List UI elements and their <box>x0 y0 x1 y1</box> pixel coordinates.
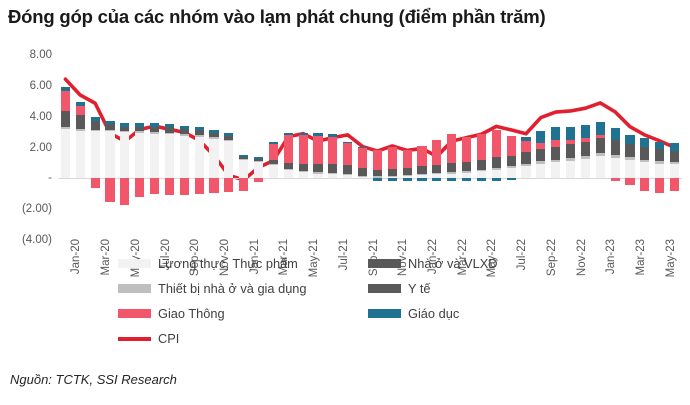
bar-segment <box>625 160 634 179</box>
bar-segment <box>120 123 129 127</box>
bar-segment <box>180 136 189 178</box>
bar-segment <box>551 160 560 162</box>
bar-segment <box>180 130 189 135</box>
stacked-bar[interactable] <box>91 55 100 240</box>
bar-segment <box>417 146 426 166</box>
legend-item[interactable]: Giáo dục <box>368 306 459 321</box>
bar-segment <box>611 178 620 180</box>
bar-segment <box>165 127 174 128</box>
bar-segment <box>388 178 397 181</box>
bar-segment <box>61 129 70 178</box>
bar-segment <box>91 121 100 122</box>
bar-segment <box>61 111 70 112</box>
bar-segment <box>566 140 575 145</box>
x-axis-tick-label: May-23 <box>665 239 677 277</box>
bar-segment <box>284 133 293 135</box>
bar-segment <box>76 131 85 179</box>
bar-segment <box>551 162 560 178</box>
bar-segment <box>343 143 352 165</box>
bar-segment <box>625 178 634 185</box>
bar-segment <box>299 171 308 172</box>
bar-segment <box>507 156 516 166</box>
stacked-bar[interactable] <box>135 55 144 240</box>
bar-segment <box>432 178 441 180</box>
bar-segment <box>195 135 204 137</box>
bar-segment <box>209 130 218 133</box>
stacked-bar[interactable] <box>447 55 456 240</box>
bar-segment <box>670 162 679 164</box>
stacked-bar[interactable] <box>358 55 367 240</box>
bar-segment <box>328 173 337 174</box>
stacked-bar[interactable] <box>492 55 501 240</box>
stacked-bar[interactable] <box>61 55 70 240</box>
bar-segment <box>120 127 129 128</box>
bar-segment <box>447 164 456 172</box>
bar-segment <box>521 166 530 178</box>
bar-segment <box>358 147 367 148</box>
bar-segment <box>611 141 620 155</box>
legend-swatch <box>118 284 151 293</box>
bar-segment <box>373 150 382 170</box>
bar-segment <box>388 169 397 175</box>
stacked-bar[interactable] <box>150 55 159 240</box>
bar-segment <box>165 133 174 135</box>
bar-segment <box>254 159 263 161</box>
stacked-bar[interactable] <box>195 55 204 240</box>
bar-segment <box>180 134 189 136</box>
bar-segment <box>581 138 590 142</box>
bar-segment <box>105 125 114 130</box>
legend-label: Giáo dục <box>408 306 459 321</box>
stacked-bar[interactable] <box>625 55 634 240</box>
bar-segment <box>91 121 100 129</box>
bar-segment <box>403 178 412 181</box>
bar-segment <box>299 133 308 135</box>
y-axis-tick-label: (2.00) <box>6 203 52 215</box>
bar-segment <box>581 156 590 159</box>
bar-segment <box>581 159 590 178</box>
bar-segment <box>328 165 337 173</box>
stacked-bar[interactable] <box>224 55 233 240</box>
bar-segment <box>596 122 605 135</box>
bar-segment <box>91 117 100 121</box>
bar-segment <box>521 153 530 164</box>
legend-item[interactable]: Lương thực, Thực phẩm <box>118 256 298 271</box>
bar-segment <box>269 165 278 178</box>
bar-segment <box>640 147 649 159</box>
y-axis-tick-label: 4.00 <box>6 111 52 123</box>
bar-segment <box>477 171 486 178</box>
bar-segment <box>343 174 352 175</box>
legend-item[interactable]: Giao Thông <box>118 306 225 321</box>
bar-segment <box>284 170 293 178</box>
bar-segment <box>254 157 263 159</box>
bar-segment <box>254 161 263 162</box>
bar-segment <box>254 178 263 182</box>
bar-segment <box>76 106 85 115</box>
bar-segment <box>477 160 486 169</box>
plot-wrapper: Jan-20Mar-20May-20Jul-20Sep-20Nov-20Jan-… <box>0 55 690 240</box>
bar-segment <box>536 164 545 179</box>
bar-segment <box>507 166 516 168</box>
bar-segment <box>462 171 471 173</box>
stacked-bar[interactable] <box>521 55 530 240</box>
bar-segment <box>135 127 144 128</box>
bar-segment <box>328 134 337 136</box>
bar-segment <box>105 124 114 125</box>
bar-segment <box>492 178 501 180</box>
bar-segment <box>313 136 322 165</box>
bar-segment <box>670 151 679 162</box>
bar-segment <box>76 116 85 129</box>
bar-segment <box>313 174 322 179</box>
stacked-bar[interactable] <box>551 55 560 240</box>
bar-segment <box>477 134 486 160</box>
stacked-bar[interactable] <box>254 55 263 240</box>
bar-segment <box>417 174 426 176</box>
stacked-bar[interactable] <box>284 55 293 240</box>
bar-segment <box>581 142 590 156</box>
bar-segment <box>195 137 204 179</box>
stacked-bar[interactable] <box>209 55 218 240</box>
bar-segment <box>566 158 575 161</box>
bar-segment <box>135 127 144 131</box>
bar-segment <box>299 172 308 178</box>
bar-segment <box>655 178 664 193</box>
bar-segment <box>655 142 664 150</box>
bar-segment <box>150 134 159 179</box>
stacked-bar[interactable] <box>120 55 129 240</box>
bar-segment <box>566 127 575 140</box>
stacked-bar[interactable] <box>165 55 174 240</box>
bar-segment <box>209 178 218 193</box>
bar-segment <box>388 147 397 169</box>
stacked-bar[interactable] <box>596 55 605 240</box>
bar-segment <box>269 142 278 144</box>
bar-segment <box>521 164 530 166</box>
stacked-bar[interactable] <box>343 55 352 240</box>
legend-swatch <box>368 284 401 293</box>
bar-segment <box>165 178 174 195</box>
bar-segment <box>61 87 70 91</box>
x-axis-tick-label: Jan-20 <box>70 239 82 274</box>
bar-segment <box>492 158 501 168</box>
bar-segment <box>209 137 218 139</box>
plot-area: Jan-20Mar-20May-20Jul-20Sep-20Nov-20Jan-… <box>58 55 682 240</box>
bar-segment <box>417 178 426 180</box>
bar-segment <box>284 163 293 168</box>
bar-segment <box>596 139 605 154</box>
bar-segment <box>224 136 233 137</box>
bar-segment <box>640 178 649 191</box>
legend-item[interactable]: CPI <box>118 331 179 346</box>
bar-segment <box>447 134 456 163</box>
bar-segment <box>224 133 233 136</box>
bar-segment <box>91 131 100 178</box>
stacked-bar[interactable] <box>655 55 664 240</box>
bar-segment <box>313 133 322 135</box>
bar-segment <box>91 178 100 187</box>
bar-segment <box>462 137 471 162</box>
bar-segment <box>507 168 516 178</box>
bar-segment <box>76 129 85 131</box>
bar-segment <box>150 178 159 193</box>
bar-segment <box>120 127 129 130</box>
legend-swatch <box>368 259 401 268</box>
bar-segment <box>670 164 679 178</box>
stacked-bar[interactable] <box>670 55 679 240</box>
bar-segment <box>640 138 649 146</box>
bar-segment <box>462 163 471 171</box>
bar-segment <box>447 172 456 174</box>
bar-segment <box>150 132 159 134</box>
legend-swatch <box>118 309 151 318</box>
bar-segment <box>150 123 159 127</box>
bar-segment <box>611 158 620 179</box>
bar-segment <box>358 177 367 179</box>
bar-segment <box>150 127 159 132</box>
y-axis-tick-label: 8.00 <box>6 49 52 61</box>
bar-segment <box>239 155 248 157</box>
y-axis-tick-label: 6.00 <box>6 80 52 92</box>
bar-segment <box>625 144 634 157</box>
legend-label: Giao Thông <box>158 306 225 321</box>
legend-item[interactable]: Nhà ở và VLXD <box>368 256 497 271</box>
bar-segment <box>209 134 218 138</box>
bar-segment <box>492 130 501 157</box>
bar-segment <box>670 178 679 191</box>
bar-segment <box>507 136 516 156</box>
y-axis-tick-label: 2.00 <box>6 142 52 154</box>
bar-segment <box>76 102 85 106</box>
legend-label: CPI <box>158 331 179 346</box>
bar-segment <box>417 167 426 174</box>
bar-segment <box>521 141 530 152</box>
bar-segment <box>239 178 248 190</box>
bar-segment <box>432 140 441 165</box>
bar-segment <box>269 164 278 165</box>
bar-segment <box>150 127 159 128</box>
bar-segment <box>239 160 248 179</box>
stacked-bar[interactable] <box>299 55 308 240</box>
stacked-bar[interactable] <box>477 55 486 240</box>
bar-segment <box>180 126 189 129</box>
bar-segment <box>195 178 204 193</box>
bar-segment <box>551 140 560 147</box>
bar-segment <box>343 142 352 144</box>
bar-segment <box>180 178 189 194</box>
bar-segment <box>61 127 70 129</box>
stacked-bar[interactable] <box>180 55 189 240</box>
stacked-bar[interactable] <box>269 55 278 240</box>
bar-segment <box>611 155 620 158</box>
bar-segment <box>596 135 605 138</box>
bar-segment <box>403 150 412 169</box>
bar-segment <box>358 176 367 177</box>
stacked-bar[interactable] <box>566 55 575 240</box>
stacked-bar[interactable] <box>373 55 382 240</box>
bar-segment <box>313 172 322 173</box>
bar-segment <box>209 139 218 178</box>
bar-segment <box>536 161 545 163</box>
legend-label: Thiết bị nhà ở và gia dụng <box>158 281 307 296</box>
bar-segment <box>358 169 367 176</box>
bar-segment <box>254 162 263 178</box>
bar-segment <box>105 131 114 178</box>
bar-segment <box>536 143 545 149</box>
bar-segment <box>120 178 129 204</box>
stacked-bar[interactable] <box>76 55 85 240</box>
stacked-bar[interactable] <box>417 55 426 240</box>
stacked-bar[interactable] <box>536 55 545 240</box>
bar-segment <box>313 165 322 173</box>
bar-segment <box>299 135 308 164</box>
stacked-bar[interactable] <box>328 55 337 240</box>
bar-segment <box>61 112 70 127</box>
bar-segment <box>195 127 204 130</box>
bar-segment <box>224 141 233 178</box>
bar-segment <box>284 135 293 163</box>
stacked-bar[interactable] <box>611 55 620 240</box>
bar-segment <box>343 166 352 174</box>
bar-segment <box>105 121 114 125</box>
bar-segment <box>224 140 233 142</box>
legend-swatch <box>368 309 401 318</box>
bar-segment <box>76 115 85 116</box>
bar-segment <box>358 148 367 168</box>
legend-label: Y tế <box>408 281 431 296</box>
bar-segment <box>209 133 218 134</box>
bar-segment <box>536 131 545 143</box>
bar-segment <box>432 165 441 173</box>
bar-segment <box>447 178 456 180</box>
bar-segment <box>462 178 471 180</box>
stacked-bar[interactable] <box>432 55 441 240</box>
bar-segment <box>640 160 649 162</box>
bar-segment <box>343 175 352 178</box>
bar-segment <box>477 178 486 180</box>
bar-segment <box>566 145 575 158</box>
bar-segment <box>625 135 634 144</box>
chart-legend: Lương thực, Thực phẩmNhà ở và VLXDThiết … <box>118 256 638 348</box>
bar-segment <box>655 164 664 179</box>
bar-segment <box>551 127 560 140</box>
legend-item[interactable]: Y tế <box>368 281 431 296</box>
stacked-bar[interactable] <box>581 55 590 240</box>
bar-segment <box>373 170 382 176</box>
bar-segment <box>120 132 129 178</box>
bar-segment <box>165 124 174 128</box>
bar-segment <box>566 161 575 179</box>
bar-segment <box>403 175 412 176</box>
bar-segment <box>195 130 204 131</box>
bar-segment <box>91 130 100 132</box>
y-axis-tick-label: (4.00) <box>6 234 52 246</box>
stacked-bar[interactable] <box>239 55 248 240</box>
bar-segment <box>640 162 649 178</box>
bar-segment <box>135 123 144 127</box>
bar-segment <box>328 174 337 178</box>
bar-segment <box>373 178 382 180</box>
bar-segment <box>180 129 189 130</box>
bar-segment <box>135 131 144 133</box>
bar-segment <box>670 143 679 151</box>
bar-segment <box>239 159 248 160</box>
bar-segment <box>120 131 129 133</box>
bar-segment <box>403 169 412 175</box>
stacked-bar[interactable] <box>507 55 516 240</box>
legend-item[interactable]: Thiết bị nhà ở và gia dụng <box>118 281 307 296</box>
bar-segment <box>551 147 560 159</box>
bar-segment <box>521 137 530 142</box>
stacked-bar[interactable] <box>403 55 412 240</box>
bar-segment <box>655 161 664 163</box>
bar-segment <box>596 153 605 156</box>
bar-segment <box>596 156 605 178</box>
bar-segment <box>492 170 501 178</box>
bar-segment <box>135 178 144 197</box>
bar-segment <box>432 173 441 175</box>
x-axis-tick-label: Mar-20 <box>100 239 112 275</box>
bar-segment <box>269 160 278 164</box>
stacked-bar[interactable] <box>388 55 397 240</box>
stacked-bar[interactable] <box>640 55 649 240</box>
bar-segment <box>284 169 293 170</box>
legend-label: Nhà ở và VLXD <box>408 256 497 271</box>
bar-segment <box>224 178 233 192</box>
y-axis-tick-label: - <box>6 172 52 184</box>
bar-segment <box>195 131 204 136</box>
bar-segment <box>388 176 397 177</box>
bar-segment <box>239 158 248 159</box>
legend-swatch <box>118 259 151 268</box>
bar-segment <box>165 134 174 178</box>
bar-segment <box>299 164 308 171</box>
bar-segment <box>328 137 337 165</box>
bar-segment <box>105 130 114 132</box>
bar-segment <box>536 150 545 162</box>
bar-segment <box>581 125 590 138</box>
legend-label: Lương thực, Thực phẩm <box>158 256 298 271</box>
bar-segment <box>625 157 634 159</box>
legend-swatch <box>118 337 151 341</box>
bar-segment <box>477 170 486 172</box>
bar-segment <box>105 178 114 202</box>
bar-segment <box>655 150 664 162</box>
bar-segment <box>507 178 516 180</box>
bar-segment <box>611 128 620 140</box>
bar-segment <box>61 91 70 111</box>
stacked-bar[interactable] <box>462 55 471 240</box>
source-note: Nguồn: TCTK, SSI Research <box>10 372 177 387</box>
bar-segment <box>224 137 233 140</box>
bar-segment <box>492 168 501 170</box>
stacked-bar[interactable] <box>105 55 114 240</box>
bar-segment <box>135 133 144 178</box>
bar-segment <box>269 144 278 159</box>
bar-segment <box>165 128 174 133</box>
chart-title: Đóng góp của các nhóm vào lạm phát chung… <box>8 6 682 28</box>
stacked-bar[interactable] <box>313 55 322 240</box>
